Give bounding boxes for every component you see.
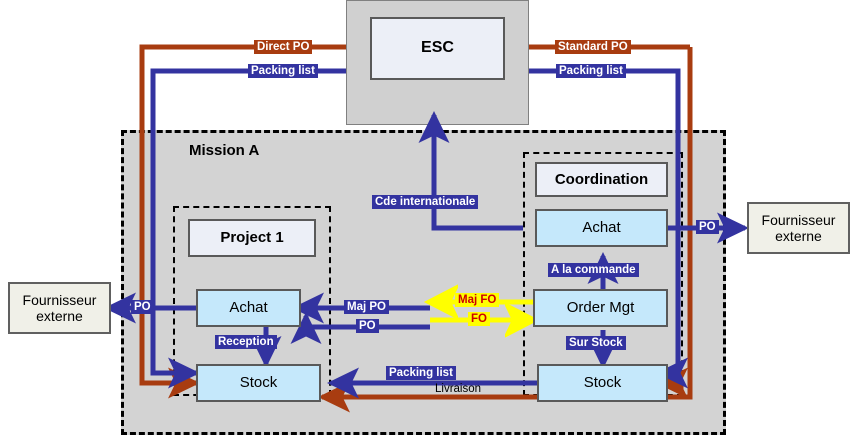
coordination-achat-node[interactable]: Achat — [535, 209, 668, 247]
edge-label-a-la-commande: A la commande — [548, 263, 639, 277]
order-mgt-node[interactable]: Order Mgt — [533, 289, 668, 327]
edge-label-maj-po: Maj PO — [344, 300, 389, 314]
supplier-right-line1: Fournisseur — [762, 212, 836, 228]
edge-label-standard-po: Standard PO — [555, 40, 631, 54]
edge-label-packing-list-left: Packing list — [248, 64, 318, 78]
supplier-right-line2: externe — [775, 228, 822, 244]
edge-label-maj-fo: Maj FO — [455, 293, 499, 307]
edge-label-cde-internationale: Cde internationale — [372, 195, 478, 209]
edge-label-packing-list-right: Packing list — [556, 64, 626, 78]
project-stock-node[interactable]: Stock — [196, 364, 321, 402]
esc-node[interactable]: ESC — [370, 17, 505, 80]
edge-label-po-mid: PO — [356, 319, 379, 333]
edge-label-reception: Reception — [215, 335, 277, 349]
edge-label-packing-list-bottom: Packing list — [386, 366, 456, 380]
project-title-node[interactable]: Project 1 — [188, 219, 316, 257]
supplier-left-line1: Fournisseur — [23, 292, 97, 308]
edge-label-direct-po: Direct PO — [254, 40, 312, 54]
project-achat-node[interactable]: Achat — [196, 289, 301, 327]
edge-label-livraison: Livraison — [432, 382, 484, 396]
supplier-left-node[interactable]: Fournisseur externe — [8, 282, 111, 334]
supplier-left-line2: externe — [36, 308, 83, 324]
edge-label-po-right: PO — [696, 220, 719, 234]
coordination-title-node[interactable]: Coordination — [535, 162, 668, 197]
mission-region-title: Mission A — [189, 142, 259, 159]
edge-label-sur-stock: Sur Stock — [566, 336, 626, 350]
coordination-stock-node[interactable]: Stock — [537, 364, 668, 402]
edge-label-po-left: PO — [131, 300, 154, 314]
diagram-canvas: Mission A ESC Project 1 Achat Stock Coor… — [0, 0, 859, 440]
edge-label-fo: FO — [468, 312, 490, 326]
supplier-right-node[interactable]: Fournisseur externe — [747, 202, 850, 254]
